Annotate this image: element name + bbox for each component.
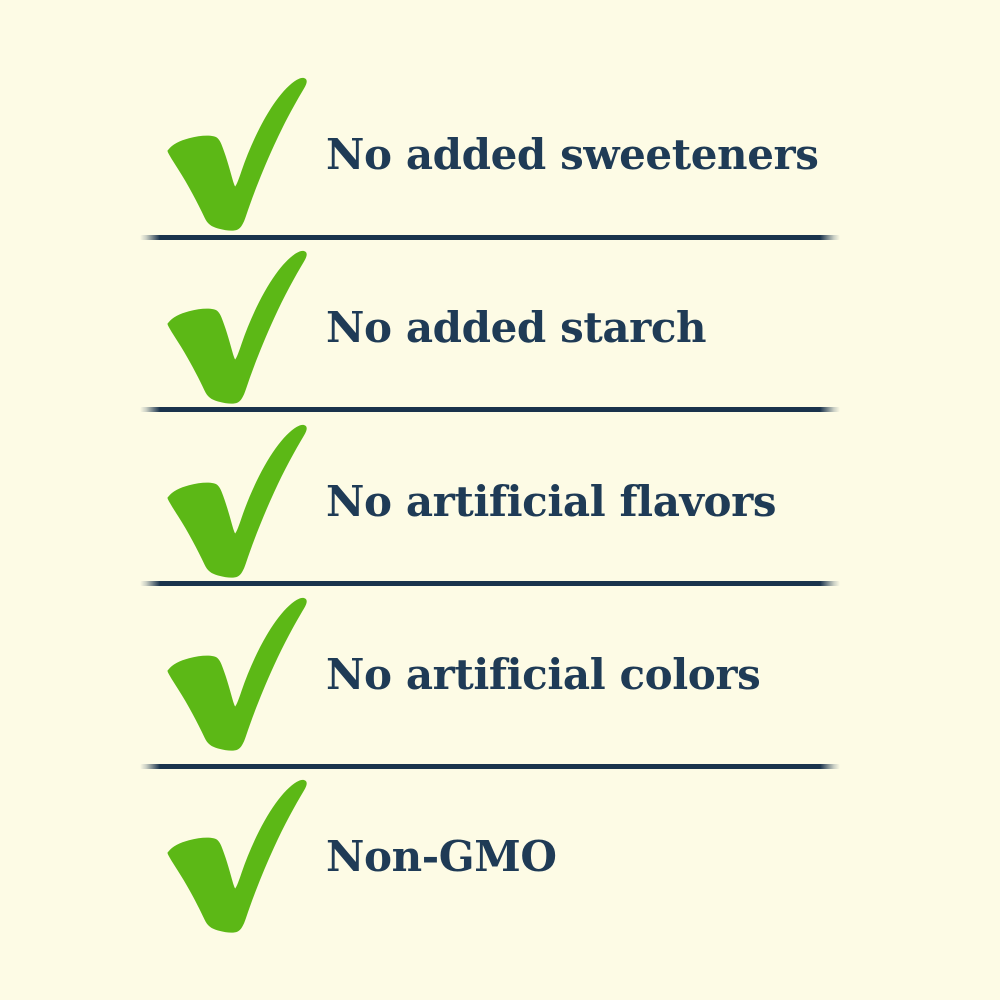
claim-row: No added starch <box>148 243 848 413</box>
claim-label: No added starch <box>316 306 848 350</box>
green-checkmark-icon <box>162 595 317 755</box>
checkmark-cell <box>148 70 316 240</box>
claim-label: Non-GMO <box>316 835 848 879</box>
row-divider <box>140 407 840 412</box>
claims-panel: No added sweeteners No added starch <box>0 0 1000 1000</box>
checkmark-cell <box>148 243 316 413</box>
claim-label: No artificial colors <box>316 653 848 697</box>
claims-list: No added sweeteners No added starch <box>0 0 1000 1000</box>
claim-label: No added sweeteners <box>316 133 848 177</box>
row-divider <box>140 235 840 240</box>
checkmark-cell <box>148 590 316 760</box>
claim-row: No added sweeteners <box>148 70 848 240</box>
green-checkmark-icon <box>162 248 317 408</box>
row-divider <box>140 581 840 586</box>
checkmark-cell <box>148 772 316 942</box>
green-checkmark-icon <box>162 75 317 235</box>
claim-label: No artificial flavors <box>316 480 848 524</box>
claim-row: Non-GMO <box>148 772 848 942</box>
checkmark-cell <box>148 417 316 587</box>
claim-row: No artificial flavors <box>148 417 848 587</box>
claim-row: No artificial colors <box>148 590 848 760</box>
green-checkmark-icon <box>162 422 317 582</box>
green-checkmark-icon <box>162 777 317 937</box>
row-divider <box>140 764 840 769</box>
